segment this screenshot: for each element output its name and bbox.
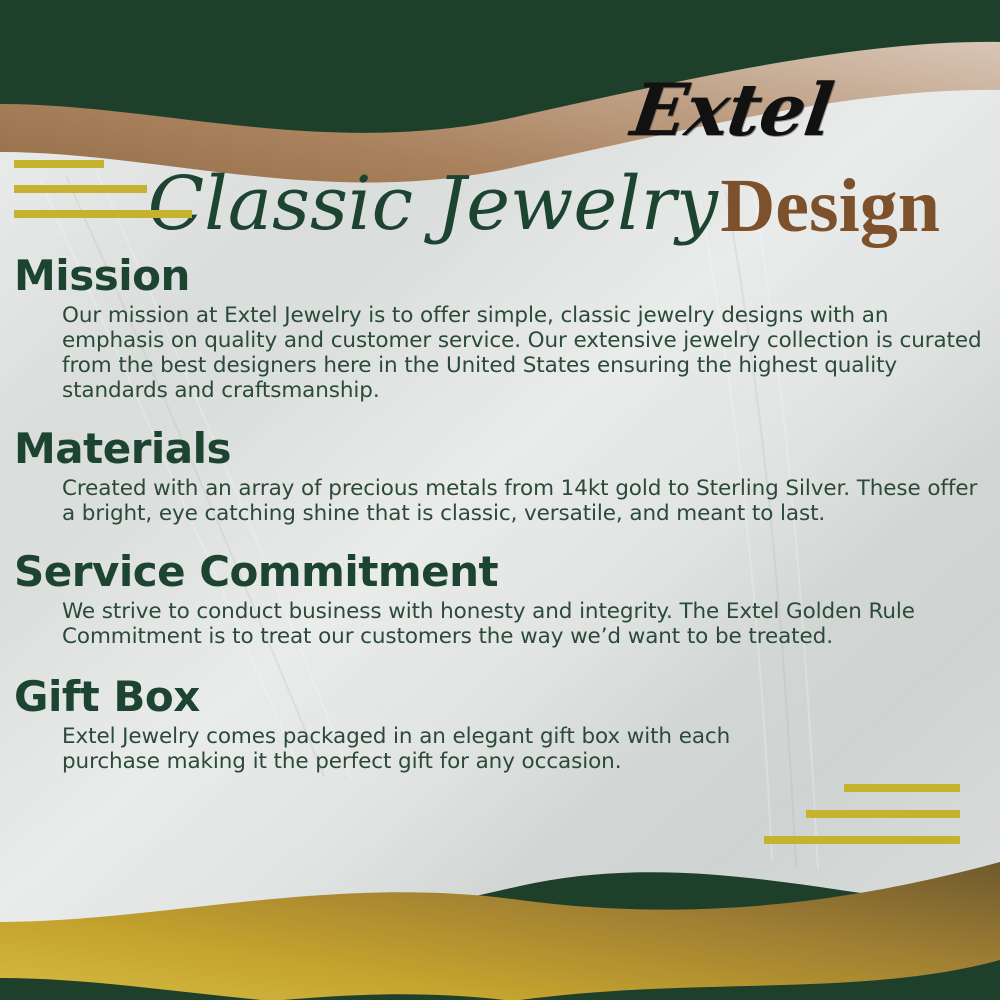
section-service-commitment: Service Commitment We strive to conduct … [0, 548, 1000, 649]
poster-canvas: Extel Classic Jewelry Design Mission Our… [0, 0, 1000, 1000]
section-body-mission: Our mission at Extel Jewelry is to offer… [62, 303, 982, 403]
section-mission: Mission Our mission at Extel Jewelry is … [0, 252, 1000, 403]
decor-lines-bottom-right [764, 784, 960, 862]
decor-line [14, 210, 192, 218]
section-gift-box: Gift Box Extel Jewelry comes packaged in… [0, 673, 1000, 774]
brand-logo: Extel [607, 74, 857, 146]
section-heading-mission: Mission [14, 252, 1000, 299]
content-sections: Mission Our mission at Extel Jewelry is … [0, 252, 1000, 790]
page-title-main: Classic Jewelry [148, 156, 718, 252]
section-heading-materials: Materials [14, 425, 1000, 472]
section-body-service-commitment: We strive to conduct business with hones… [62, 599, 982, 649]
decor-line [806, 810, 960, 818]
section-heading-gift-box: Gift Box [14, 673, 1000, 720]
section-materials: Materials Created with an array of preci… [0, 425, 1000, 526]
decor-lines-top-left [14, 160, 192, 235]
decor-line [14, 160, 104, 168]
section-heading-service-commitment: Service Commitment [14, 548, 1000, 595]
section-body-materials: Created with an array of precious metals… [62, 476, 982, 526]
page-title-accent: Design [720, 158, 940, 254]
decor-line [764, 836, 960, 844]
section-body-gift-box: Extel Jewelry comes packaged in an elega… [62, 724, 750, 774]
decor-line [14, 185, 147, 193]
